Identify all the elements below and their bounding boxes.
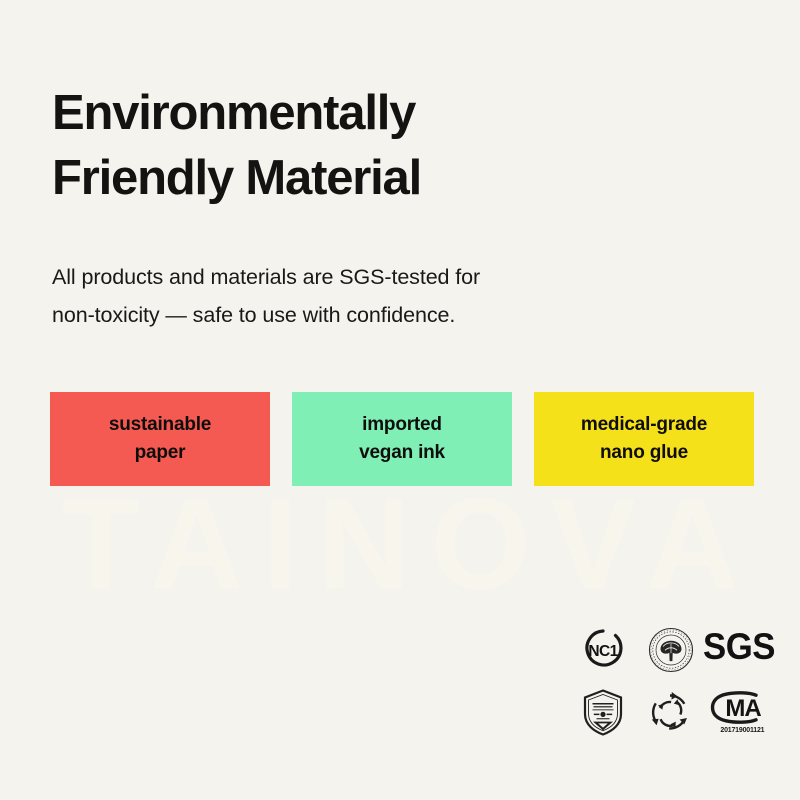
sgs-wordmark: SGS — [710, 618, 768, 678]
material-chip-label-line-2: paper — [135, 439, 186, 467]
material-chip-nano-glue: medical-grade nano glue — [534, 392, 754, 486]
nc1-icon: NC1 — [572, 622, 634, 678]
material-chip-sustainable-paper: sustainable paper — [50, 392, 270, 486]
promo-card: TAINOVA Environmentally Friendly Materia… — [0, 0, 800, 800]
material-chip-group: sustainable paper imported vegan ink med… — [50, 392, 754, 486]
description-text: All products and materials are SGS-teste… — [52, 258, 652, 335]
description-line-1: All products and materials are SGS-teste… — [52, 258, 652, 296]
material-chip-label-line-1: imported — [362, 411, 442, 439]
material-chip-label-line-2: nano glue — [600, 439, 688, 467]
material-chip-label-line-1: sustainable — [109, 411, 211, 439]
cma-certificate-number: 201719001121 — [720, 727, 764, 734]
material-chip-label-line-1: medical-grade — [581, 411, 707, 439]
certification-badge-group: NC1 SGS — [572, 622, 778, 740]
page-title: Environmentally Friendly Material — [52, 81, 712, 210]
material-chip-label-line-2: vegan ink — [359, 439, 445, 467]
page-title-line-1: Environmentally — [52, 81, 712, 146]
page-title-line-2: Friendly Material — [52, 146, 712, 211]
svg-text:NC1: NC1 — [588, 643, 618, 660]
brand-watermark: TAINOVA — [0, 485, 800, 605]
recycling-icon — [639, 684, 700, 740]
material-chip-vegan-ink: imported vegan ink — [292, 392, 512, 486]
svg-text:MA: MA — [726, 695, 762, 722]
description-line-2: non-toxicity — safe to use with confiden… — [52, 296, 652, 334]
shield-icon — [572, 684, 633, 740]
certification-badge-row-bottom: MA 201719001121 — [572, 684, 778, 740]
cma-icon: MA 201719001121 — [707, 684, 778, 740]
forest-seal-icon — [640, 622, 702, 678]
certification-badge-row-top: NC1 SGS — [572, 622, 778, 678]
